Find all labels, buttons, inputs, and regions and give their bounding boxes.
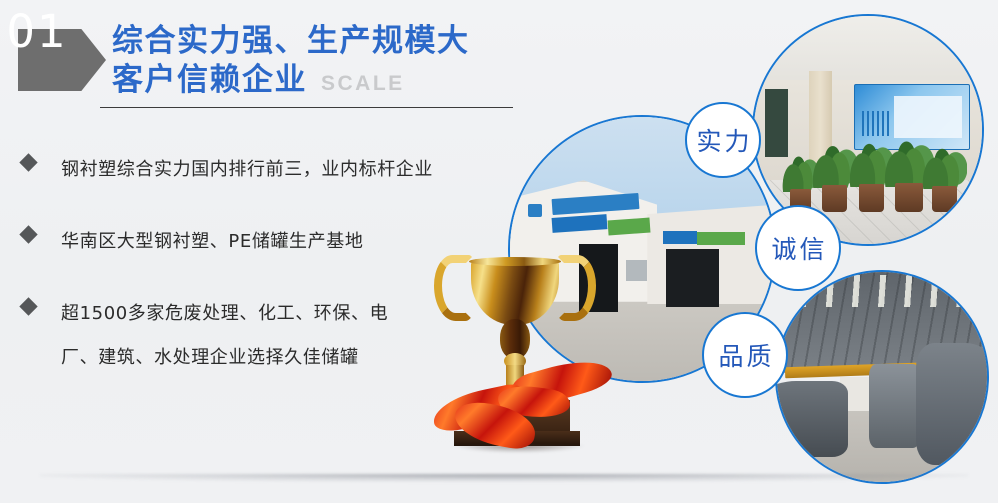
label-circle-integrity[interactable]: 诚信 [755, 205, 841, 291]
promo-banner: 实力 诚信 品质 01 综合实力强、生产规模大 [0, 0, 998, 503]
diamond-bullet-icon [19, 225, 37, 243]
page-title: 综合实力强、生产规模大 客户信赖企业 SCALE [112, 22, 470, 100]
potted-plant [822, 153, 847, 212]
bottom-shadow [40, 474, 968, 482]
plant-pot [822, 185, 847, 212]
ceiling-region [754, 16, 982, 84]
plant-pot [895, 183, 922, 212]
title-line-2-row: 客户信赖企业 SCALE [112, 61, 470, 100]
feature-list: 钢衬塑综合实力国内排行前三，业内标杆企业 华南区大型钢衬塑、PE储罐生产基地 超… [22, 148, 492, 408]
wall-logo-icon [528, 204, 541, 217]
list-item: 钢衬塑综合实力国内排行前三，业内标杆企业 [22, 148, 492, 192]
storage-tank [916, 343, 989, 465]
title-line-1: 综合实力强、生产规模大 [112, 22, 470, 61]
factory-door-right [666, 249, 719, 307]
list-item-text: 钢衬塑综合实力国内排行前三，业内标杆企业 [61, 148, 433, 192]
list-item-text: 超1500多家危废处理、化工、环保、电 厂、建筑、水处理企业选择久佳储罐 [61, 292, 388, 380]
potted-plant [859, 151, 884, 213]
trophy-handle-right [556, 255, 596, 321]
list-item: 华南区大型钢衬塑、PE储罐生产基地 [22, 220, 492, 264]
factory-sign-blue-2 [663, 231, 697, 244]
storage-tank [869, 364, 919, 448]
list-item-text: 华南区大型钢衬塑、PE储罐生产基地 [61, 220, 363, 264]
list-item-line-1: 钢衬塑综合实力国内排行前三，业内标杆企业 [61, 159, 433, 180]
list-item-line-1: 超1500多家危废处理、化工、环保、电 [61, 303, 388, 324]
factory-window [626, 260, 647, 281]
potted-plant [895, 148, 922, 212]
label-circle-integrity-text: 诚信 [768, 230, 827, 266]
title-line-2: 客户信赖企业 [112, 61, 307, 100]
storage-tank [775, 381, 848, 457]
label-circle-quality-text: 品质 [715, 337, 774, 373]
factory-sign-green-2 [697, 232, 745, 245]
potted-plant [932, 155, 957, 212]
plant-pot [859, 184, 884, 212]
diamond-bullet-icon [19, 153, 37, 171]
plant-leaves [922, 121, 967, 189]
label-circle-strength[interactable]: 实力 [685, 102, 761, 178]
label-circle-strength-text: 实力 [693, 122, 752, 158]
list-item: 超1500多家危废处理、化工、环保、电 厂、建筑、水处理企业选择久佳储罐 [22, 292, 492, 380]
factory-sign-green [607, 217, 650, 234]
title-english-subtitle: SCALE [321, 72, 405, 96]
list-item-line-2: 厂、建筑、水处理企业选择久佳储罐 [61, 336, 388, 380]
section-number-text: 01 [6, 2, 68, 62]
diamond-bullet-icon [19, 297, 37, 315]
list-item-line-1: 华南区大型钢衬塑、PE储罐生产基地 [61, 231, 363, 252]
warehouse-tanks-photo [775, 270, 989, 484]
label-circle-quality[interactable]: 品质 [702, 312, 788, 398]
plant-pot [932, 186, 957, 212]
header-divider [100, 107, 513, 108]
